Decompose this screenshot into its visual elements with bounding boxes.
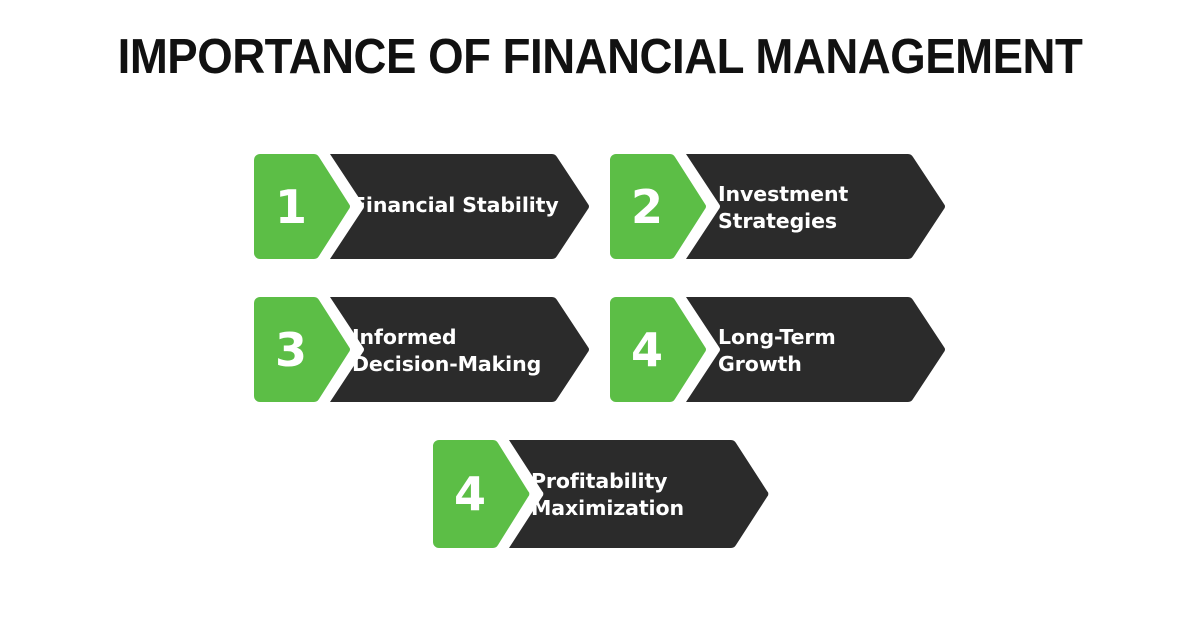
step-number-4: 4 (616, 297, 678, 402)
step-card-3[interactable]: 3 Informed Decision-Making (252, 297, 590, 402)
step-label-4: Long-Term Growth (718, 324, 836, 378)
step-number-3: 3 (260, 297, 322, 402)
step-card-1[interactable]: 1 Financial Stability (252, 154, 590, 259)
infographic-canvas: IMPORTANCE OF FINANCIAL MANAGEMENT 1 Fin… (0, 0, 1200, 630)
step-number-2: 2 (616, 154, 678, 259)
step-label-3: Informed Decision-Making (352, 324, 541, 378)
step-card-2[interactable]: 2 Investment Strategies (608, 154, 946, 259)
step-number-1: 1 (260, 154, 322, 259)
step-label-1: Financial Stability (352, 192, 559, 219)
step-label-2: Investment Strategies (718, 181, 848, 235)
step-number-5: 4 (439, 440, 501, 548)
step-label-5: Profitability Maximization (531, 468, 684, 522)
page-title: IMPORTANCE OF FINANCIAL MANAGEMENT (42, 32, 1158, 83)
step-card-5[interactable]: 4 Profitability Maximization (431, 440, 769, 548)
step-card-4[interactable]: 4 Long-Term Growth (608, 297, 946, 402)
